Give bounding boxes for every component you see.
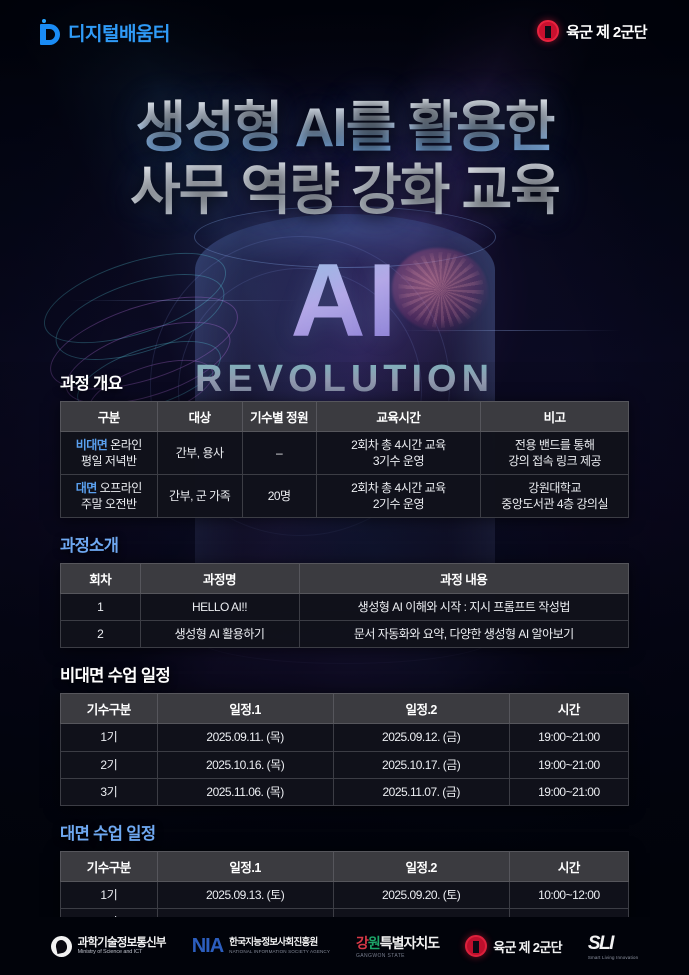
offline-row-0-time: 10:00~12:00 xyxy=(509,881,628,908)
msit-name-en: Ministry of Science and ICT xyxy=(78,949,166,955)
overview-row-1-time-l2: 2기수 운영 xyxy=(373,497,424,511)
overview-row-0-time: 2회차 총 4시간 교육 3기수 운영 xyxy=(316,432,481,475)
table-row: 2 생성형 AI 활용하기 문서 자동화와 요약, 다양한 생성형 AI 알아보… xyxy=(61,621,629,648)
section-overview: 과정 개요 구분 대상 기수별 정원 교육시간 비고 비대면 온라인 xyxy=(60,370,629,518)
overview-row-1-gubun-highlight: 대면 xyxy=(76,481,97,495)
table-row: 1기 2025.09.13. (토) 2025.09.20. (토) 10:00… xyxy=(61,881,629,908)
overview-row-0-bigo-l2: 강의 접속 링크 제공 xyxy=(508,454,601,468)
overview-row-1-jeongwon: 20명 xyxy=(242,475,316,518)
overview-row-1-gubun-rest: 오프라인 xyxy=(97,481,142,495)
table-row: 1기 2025.09.11. (목) 2025.09.12. (금) 19:00… xyxy=(61,724,629,751)
curriculum-col-no: 회차 xyxy=(61,564,141,594)
overview-row-1-time: 2회차 총 4시간 교육 2기수 운영 xyxy=(316,475,481,518)
sli-name-en: Smart Living Innovation xyxy=(588,955,638,960)
overview-col-time: 교육시간 xyxy=(316,402,481,432)
overview-row-1-gubun-line2: 주말 오전반 xyxy=(81,497,137,511)
online-row-1-date1: 2025.10.16. (목) xyxy=(157,751,333,778)
online-col-date2: 일정.2 xyxy=(333,694,509,724)
overview-row-0-time-l1: 2회차 총 4시간 교육 xyxy=(351,438,446,452)
poster-root: AI REVOLUTION 디지털배움터 육군 제 2군단 생성형 AI를 활용… xyxy=(0,0,689,975)
curriculum-table: 회차 과정명 과정 내용 1 HELLO AI!! 생성형 AI 이해와 시작 … xyxy=(60,563,629,648)
online-schedule-table: 기수구분 일정.1 일정.2 시간 1기 2025.09.11. (목) 202… xyxy=(60,693,629,805)
curriculum-row-0-content: 생성형 AI 이해와 시작 : 지시 프롬프트 작성법 xyxy=(299,594,628,621)
overview-row-1-time-l1: 2회차 총 4시간 교육 xyxy=(351,481,446,495)
table-row: 대면 오프라인 주말 오전반 간부, 군 가족 20명 2회차 총 4시간 교육… xyxy=(61,475,629,518)
section-online-schedule-heading: 비대면 수업 일정 xyxy=(60,662,629,686)
army-name-ko: 육군 제 2군단 xyxy=(493,937,562,956)
nia-logo-icon: NIA xyxy=(192,935,223,958)
online-col-date1: 일정.1 xyxy=(157,694,333,724)
table-header-row: 기수구분 일정.1 일정.2 시간 xyxy=(61,694,629,724)
digital-baeumteo-logo-label: 디지털배움터 xyxy=(68,19,170,46)
table-header-row: 기수구분 일정.1 일정.2 시간 xyxy=(61,851,629,881)
poster-body: 과정 개요 구분 대상 기수별 정원 교육시간 비고 비대면 온라인 xyxy=(0,370,689,965)
overview-row-1-bigo: 강원대학교 중앙도서관 4층 강의실 xyxy=(481,475,629,518)
offline-row-0-group: 1기 xyxy=(61,881,158,908)
digital-baeumteo-logo[interactable]: 디지털배움터 xyxy=(40,19,170,46)
msit-taegeuk-icon xyxy=(51,936,72,957)
offline-col-date1: 일정.1 xyxy=(157,851,333,881)
curriculum-row-1-name: 생성형 AI 활용하기 xyxy=(140,621,299,648)
curriculum-row-0-no: 1 xyxy=(61,594,141,621)
table-row: 3기 2025.11.06. (목) 2025.11.07. (금) 19:00… xyxy=(61,778,629,805)
overview-row-0-daesang: 간부, 용사 xyxy=(157,432,242,475)
online-row-0-date1: 2025.09.11. (목) xyxy=(157,724,333,751)
overview-row-0-gubun-rest: 온라인 xyxy=(107,438,141,452)
online-row-1-date2: 2025.10.17. (금) xyxy=(333,751,509,778)
footer-logo-msit[interactable]: 과학기술정보통신부 Ministry of Science and ICT xyxy=(51,936,166,957)
section-overview-heading: 과정 개요 xyxy=(60,370,629,394)
overview-row-1-bigo-l2: 중앙도서관 4층 강의실 xyxy=(501,497,608,511)
curriculum-row-1-no: 2 xyxy=(61,621,141,648)
msit-name-ko: 과학기술정보통신부 xyxy=(78,937,166,950)
overview-col-bigo: 비고 xyxy=(481,402,629,432)
online-row-2-date1: 2025.11.06. (목) xyxy=(157,778,333,805)
offline-col-time: 시간 xyxy=(509,851,628,881)
offline-row-0-date1: 2025.09.13. (토) xyxy=(157,881,333,908)
online-row-0-time: 19:00~21:00 xyxy=(509,724,628,751)
online-col-group: 기수구분 xyxy=(61,694,158,724)
section-online-schedule: 비대면 수업 일정 기수구분 일정.1 일정.2 시간 1기 2025.09.1… xyxy=(60,662,629,805)
nia-name-ko: 한국지능정보사회진흥원 xyxy=(229,938,330,948)
overview-row-0-bigo: 전용 밴드를 통해 강의 접속 링크 제공 xyxy=(481,432,629,475)
online-row-1-time: 19:00~21:00 xyxy=(509,751,628,778)
overview-row-0-time-l2: 3기수 운영 xyxy=(373,454,424,468)
section-curriculum-heading: 과정소개 xyxy=(60,532,629,556)
online-col-time: 시간 xyxy=(509,694,628,724)
table-header-row: 구분 대상 기수별 정원 교육시간 비고 xyxy=(61,402,629,432)
overview-col-jeongwon: 기수별 정원 xyxy=(242,402,316,432)
overview-row-0-bigo-l1: 전용 밴드를 통해 xyxy=(515,438,594,452)
offline-col-group: 기수구분 xyxy=(61,851,158,881)
footer-logo-gangwon[interactable]: 강원특별자치도 GANGWON STATE xyxy=(356,933,439,959)
section-offline-schedule-heading: 대면 수업 일정 xyxy=(60,820,629,844)
overview-row-0-gubun-line2: 평일 저녁반 xyxy=(81,454,137,468)
online-row-0-group: 1기 xyxy=(61,724,158,751)
artwork-ai-wordmark: AI xyxy=(0,242,689,361)
overview-row-0-jeongwon: – xyxy=(242,432,316,475)
army-corps-header-label: 육군 제 2군단 xyxy=(566,21,647,42)
online-row-2-date2: 2025.11.07. (금) xyxy=(333,778,509,805)
digital-baeumteo-logo-icon xyxy=(40,21,60,45)
online-row-2-group: 3기 xyxy=(61,778,158,805)
army-2nd-corps-badge-icon xyxy=(537,20,559,42)
title-line-1: 생성형 AI를 활용한 xyxy=(0,96,689,159)
footer-logo-nia[interactable]: NIA 한국지능정보사회진흥원 NATIONAL INFORMATION SOC… xyxy=(192,935,330,958)
online-row-2-time: 19:00~21:00 xyxy=(509,778,628,805)
overview-row-1-daesang: 간부, 군 가족 xyxy=(157,475,242,518)
online-row-1-group: 2기 xyxy=(61,751,158,778)
curriculum-col-content: 과정 내용 xyxy=(299,564,628,594)
curriculum-col-name: 과정명 xyxy=(140,564,299,594)
table-header-row: 회차 과정명 과정 내용 xyxy=(61,564,629,594)
footer-logo-army[interactable]: 육군 제 2군단 xyxy=(465,935,562,957)
offline-col-date2: 일정.2 xyxy=(333,851,509,881)
overview-row-1-bigo-l1: 강원대학교 xyxy=(528,481,581,495)
curriculum-row-1-content: 문서 자동화와 요약, 다양한 생성형 AI 알아보기 xyxy=(299,621,628,648)
overview-row-0-gubun-highlight: 비대면 xyxy=(76,438,108,452)
table-row: 1 HELLO AI!! 생성형 AI 이해와 시작 : 지시 프롬프트 작성법 xyxy=(61,594,629,621)
table-row: 비대면 온라인 평일 저녁반 간부, 용사 – 2회차 총 4시간 교육 3기수… xyxy=(61,432,629,475)
overview-table: 구분 대상 기수별 정원 교육시간 비고 비대면 온라인 평일 저녁반 간부, … xyxy=(60,401,629,518)
poster-title: 생성형 AI를 활용한 사무 역량 강화 교육 xyxy=(0,96,689,221)
gangwon-name-en: GANGWON STATE xyxy=(356,953,439,959)
curriculum-row-0-name: HELLO AI!! xyxy=(140,594,299,621)
overview-row-1-gubun: 대면 오프라인 주말 오전반 xyxy=(61,475,158,518)
footer-logo-sli[interactable]: SLI Smart Living Innovation xyxy=(588,933,638,960)
overview-col-gubun: 구분 xyxy=(61,402,158,432)
title-line-2: 사무 역량 강화 교육 xyxy=(0,159,689,222)
table-row: 2기 2025.10.16. (목) 2025.10.17. (금) 19:00… xyxy=(61,751,629,778)
footer-logo-bar: 과학기술정보통신부 Ministry of Science and ICT NI… xyxy=(0,917,689,975)
overview-col-daesang: 대상 xyxy=(157,402,242,432)
offline-row-0-date2: 2025.09.20. (토) xyxy=(333,881,509,908)
army-corps-header-logo[interactable]: 육군 제 2군단 xyxy=(537,20,647,42)
poster-header: 디지털배움터 육군 제 2군단 xyxy=(0,0,689,62)
nia-name-en: NATIONAL INFORMATION SOCIETY AGENCY xyxy=(229,949,330,954)
sli-logo-icon: SLI xyxy=(588,933,638,955)
army-2nd-corps-badge-icon xyxy=(465,935,487,957)
section-curriculum: 과정소개 회차 과정명 과정 내용 1 HELLO AI!! 생성형 AI 이해… xyxy=(60,532,629,648)
overview-row-0-gubun: 비대면 온라인 평일 저녁반 xyxy=(61,432,158,475)
online-row-0-date2: 2025.09.12. (금) xyxy=(333,724,509,751)
gangwon-state-logo-icon: 강원특별자치도 xyxy=(356,933,439,953)
